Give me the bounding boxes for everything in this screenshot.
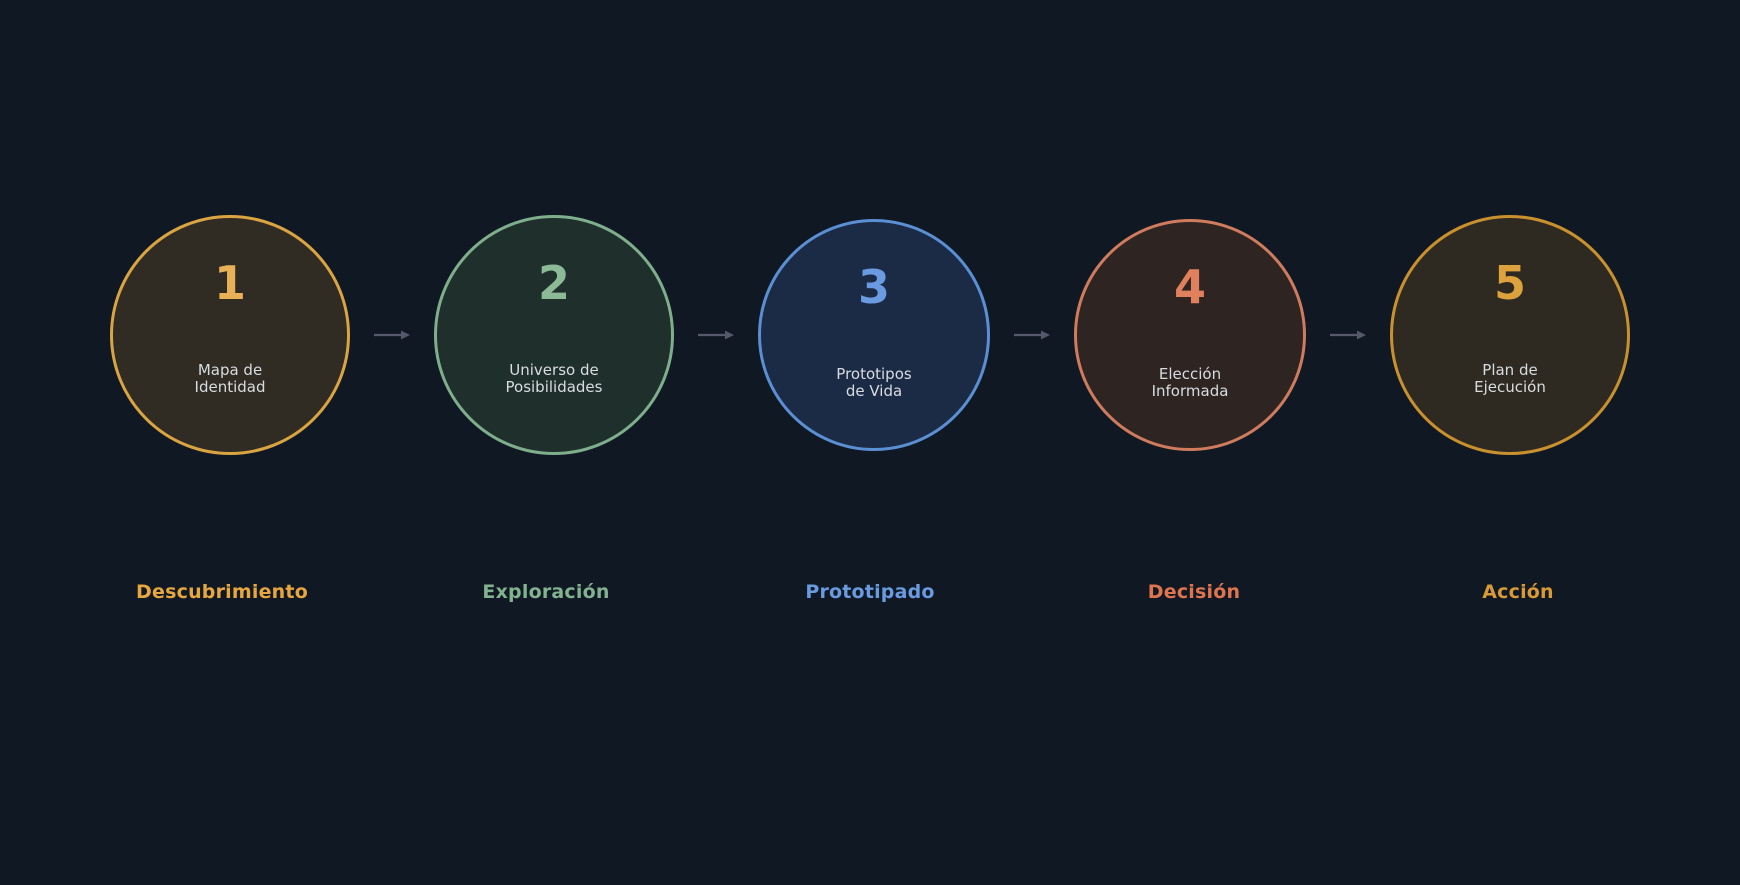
stage-concept-5: Plan de Ejecución [1393,362,1627,397]
phase-label-5: Acción [1398,581,1638,603]
stage-concept-4: Elección Informada [1077,366,1303,401]
stage-node-2[interactable]: 2 Universo de Posibilidades [434,215,674,455]
stage-node-4[interactable]: 4 Elección Informada [1074,219,1306,451]
stage-node-1[interactable]: 1 Mapa de Identidad [110,215,350,455]
stage-node-3[interactable]: 3 Prototipos de Vida [758,219,990,451]
phase-label-3: Prototipado [750,581,990,603]
connector-2 [674,215,758,455]
stage-number-1: 1 [214,260,246,306]
phase-label-1: Descubrimiento [102,581,342,603]
arrow-right-icon [1330,328,1366,342]
connector-3 [990,215,1074,455]
stage-node-5[interactable]: 5 Plan de Ejecución [1390,215,1630,455]
connector-1 [350,215,434,455]
stage-concept-1: Mapa de Identidad [113,362,347,397]
arrow-right-icon [698,328,734,342]
arrow-right-icon [1014,328,1050,342]
stage-number-4: 4 [1174,264,1206,310]
stage-number-5: 5 [1494,260,1526,306]
arrow-right-icon [374,328,410,342]
stage-number-3: 3 [858,264,890,310]
process-flow-diagram: 1 Mapa de Identidad 2 Universo de Posibi… [0,0,1740,885]
stage-concept-3: Prototipos de Vida [761,366,987,401]
connector-4 [1306,215,1390,455]
phase-label-row: Descubrimiento Exploración Prototipado D… [0,575,1740,609]
stage-concept-2: Universo de Posibilidades [437,362,671,397]
stage-number-2: 2 [538,260,570,306]
stage-row: 1 Mapa de Identidad 2 Universo de Posibi… [0,215,1740,455]
phase-label-2: Exploración [426,581,666,603]
phase-label-4: Decisión [1074,581,1314,603]
